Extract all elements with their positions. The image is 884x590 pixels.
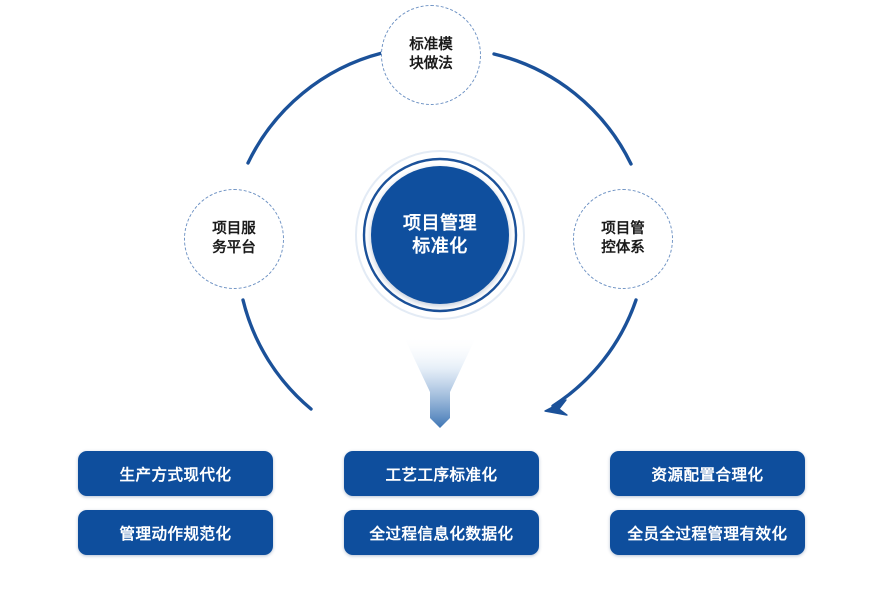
satellite-node-right[interactable]: 项目管 控体系 xyxy=(573,189,673,289)
outer-arc-lower-left xyxy=(243,300,311,409)
outcome-pill[interactable]: 管理动作规范化 xyxy=(78,510,273,555)
outcome-pill[interactable]: 资源配置合理化 xyxy=(610,451,805,496)
satellite-label-right: 项目管 控体系 xyxy=(601,220,645,258)
outcome-pill[interactable]: 工艺工序标准化 xyxy=(344,451,539,496)
hub-center-label: 项目管理 标准化 xyxy=(403,212,477,258)
diagram-canvas: 项目管理 标准化 标准模 块做法 项目服 务平台 项目管 控体系 生产方式现代化… xyxy=(0,0,884,590)
satellite-label-top: 标准模 块做法 xyxy=(409,36,453,74)
satellite-node-top[interactable]: 标准模 块做法 xyxy=(381,5,481,105)
outcome-pill[interactable]: 全员全过程管理有效化 xyxy=(610,510,805,555)
outer-arc-upper-right xyxy=(494,54,631,164)
down-arrow-icon xyxy=(404,337,476,428)
outer-arc-lower-right xyxy=(553,300,636,406)
satellite-label-left: 项目服 务平台 xyxy=(212,220,256,258)
outcome-pill[interactable]: 全过程信息化数据化 xyxy=(344,510,539,555)
outcome-pill-grid: 生产方式现代化 工艺工序标准化 资源配置合理化 管理动作规范化 全过程信息化数据… xyxy=(78,451,806,555)
outer-arc-upper-left xyxy=(248,53,382,163)
outcome-pill[interactable]: 生产方式现代化 xyxy=(78,451,273,496)
satellite-node-left[interactable]: 项目服 务平台 xyxy=(184,189,284,289)
hub-center-node[interactable]: 项目管理 标准化 xyxy=(371,166,509,304)
